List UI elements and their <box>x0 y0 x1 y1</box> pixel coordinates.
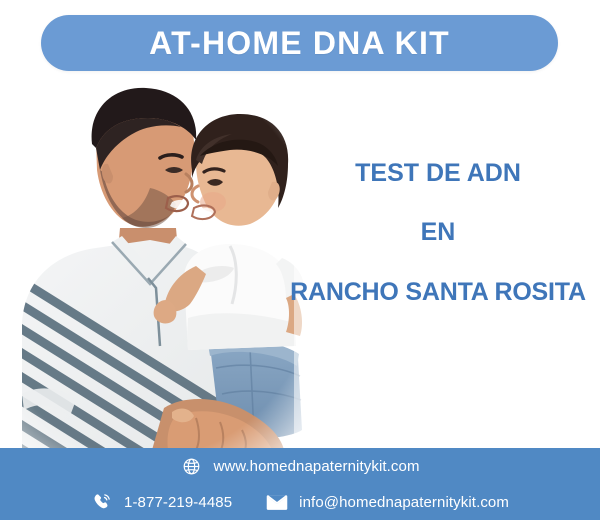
email-contact-item[interactable]: info@homednapaternitykit.com <box>266 491 509 513</box>
phone-contact-item[interactable]: 1-877-219-4485 <box>91 491 232 513</box>
footer-row-website: www.homednapaternitykit.com <box>0 448 600 484</box>
website-label: www.homednapaternitykit.com <box>213 458 419 475</box>
banner-title: AT-HOME DNA KIT <box>149 27 450 59</box>
headline-line-3: RANCHO SANTA ROSITA <box>286 279 590 305</box>
email-label: info@homednapaternitykit.com <box>299 494 509 511</box>
contact-footer: www.homednapaternitykit.com 1-877-219-44… <box>0 448 600 520</box>
header-banner: AT-HOME DNA KIT <box>41 15 558 71</box>
headline-line-2: EN <box>286 219 590 245</box>
father-and-child-photo <box>0 78 330 450</box>
website-contact-item[interactable]: www.homednapaternitykit.com <box>180 455 419 477</box>
globe-icon <box>180 455 202 477</box>
phone-label: 1-877-219-4485 <box>124 494 232 511</box>
envelope-icon <box>266 491 288 513</box>
headline-line-1: TEST DE ADN <box>286 160 590 186</box>
poster-canvas: AT-HOME DNA KIT <box>0 0 600 520</box>
phone-icon <box>91 491 113 513</box>
footer-row-phone-email: 1-877-219-4485 info@homednapaternitykit.… <box>0 484 600 520</box>
headline-block: TEST DE ADN EN RANCHO SANTA ROSITA <box>286 160 590 305</box>
